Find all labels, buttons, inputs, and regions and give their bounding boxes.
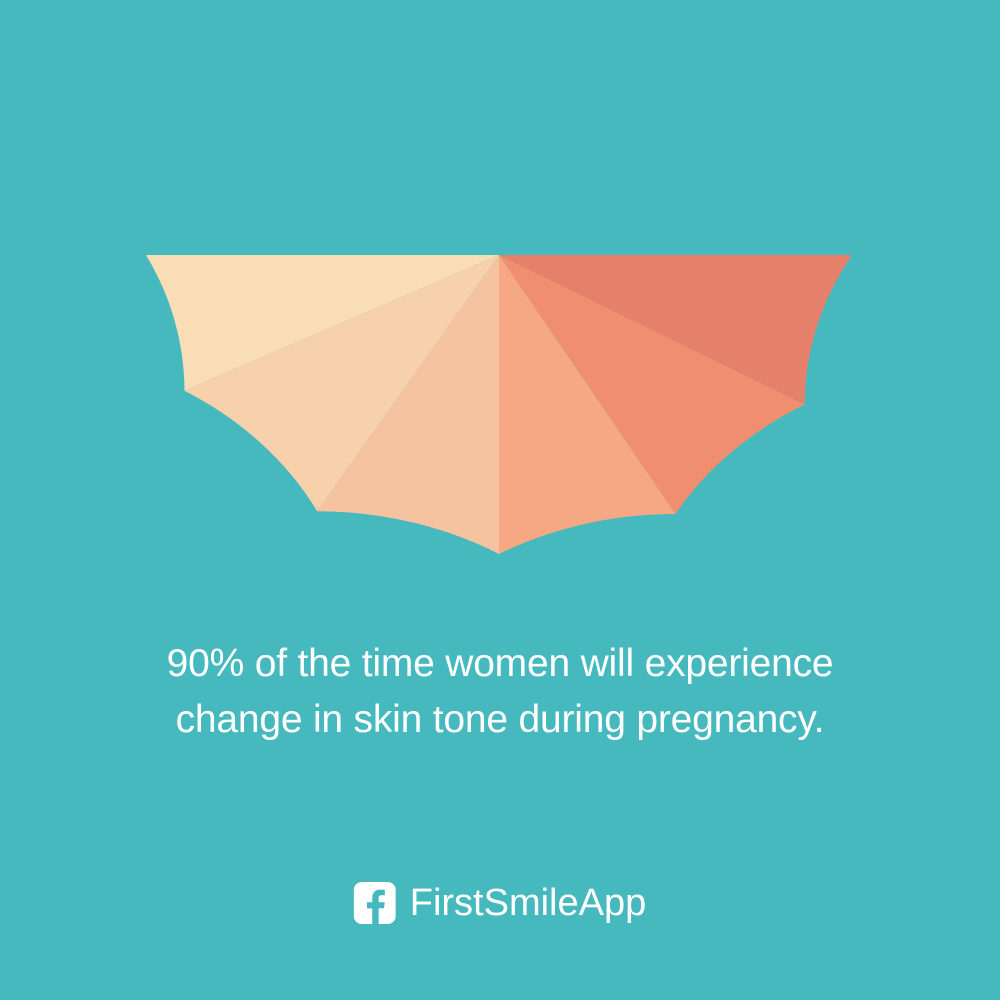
- pie-slice-group: [146, 255, 852, 554]
- facebook-icon[interactable]: [354, 882, 396, 924]
- pie-chart: [0, 0, 1000, 600]
- pie-chart-svg: [0, 0, 1000, 600]
- infographic-card: 90% of the time women will experience ch…: [0, 0, 1000, 1000]
- brand-footer[interactable]: FirstSmileApp: [354, 882, 647, 924]
- caption-text: 90% of the time women will experience ch…: [70, 636, 930, 748]
- brand-name-label: FirstSmileApp: [410, 882, 647, 924]
